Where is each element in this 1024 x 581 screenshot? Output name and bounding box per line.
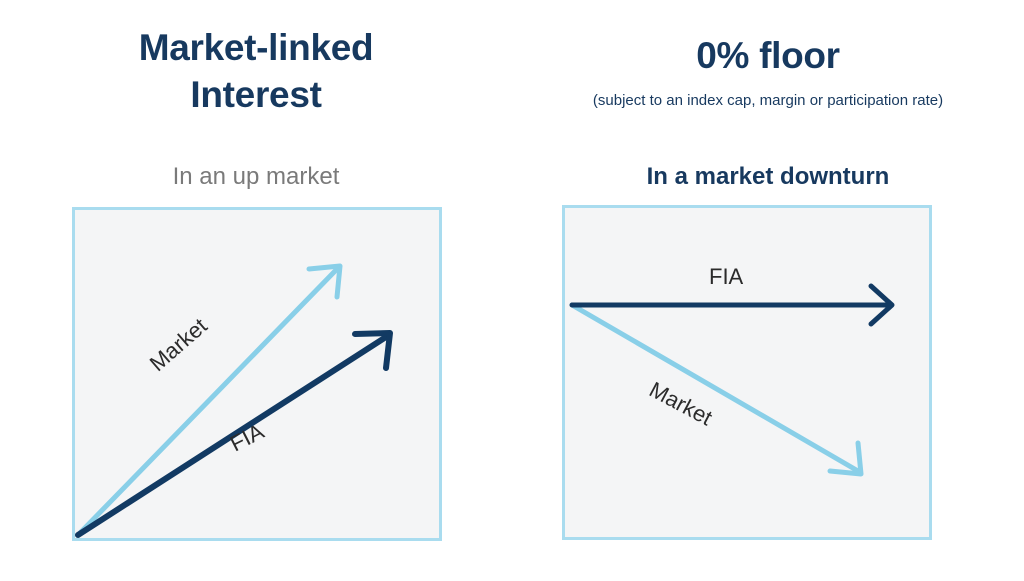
series-market-arrow-down: [572, 305, 861, 474]
chart-up-market-svg: [72, 207, 448, 547]
panel-zero-percent-floor: 0% floor (subject to an index cap, margi…: [512, 0, 1024, 581]
slide-canvas: Market-linked Interest In an up market M…: [0, 0, 1024, 581]
subheading-market-downturn: In a market downturn: [512, 163, 1024, 191]
series-fia-arrow-flat: [572, 286, 892, 324]
page-title-left-line1: Market-linked: [0, 24, 512, 71]
panel-market-linked-interest: Market-linked Interest In an up market M…: [0, 0, 512, 581]
page-title-left-line2: Interest: [0, 71, 512, 118]
chart-market-downturn: [562, 205, 932, 540]
page-title-left: Market-linked Interest: [0, 24, 512, 118]
subheading-up-market: In an up market: [0, 163, 512, 191]
page-subtitle-right: (subject to an index cap, margin or part…: [512, 92, 1024, 109]
series-market-arrow: [78, 266, 340, 535]
chart-market-downturn-svg: [562, 205, 938, 546]
chart-label-fia-flat: FIA: [709, 264, 743, 290]
chart-up-market: [72, 207, 442, 541]
page-title-right: 0% floor: [512, 32, 1024, 79]
